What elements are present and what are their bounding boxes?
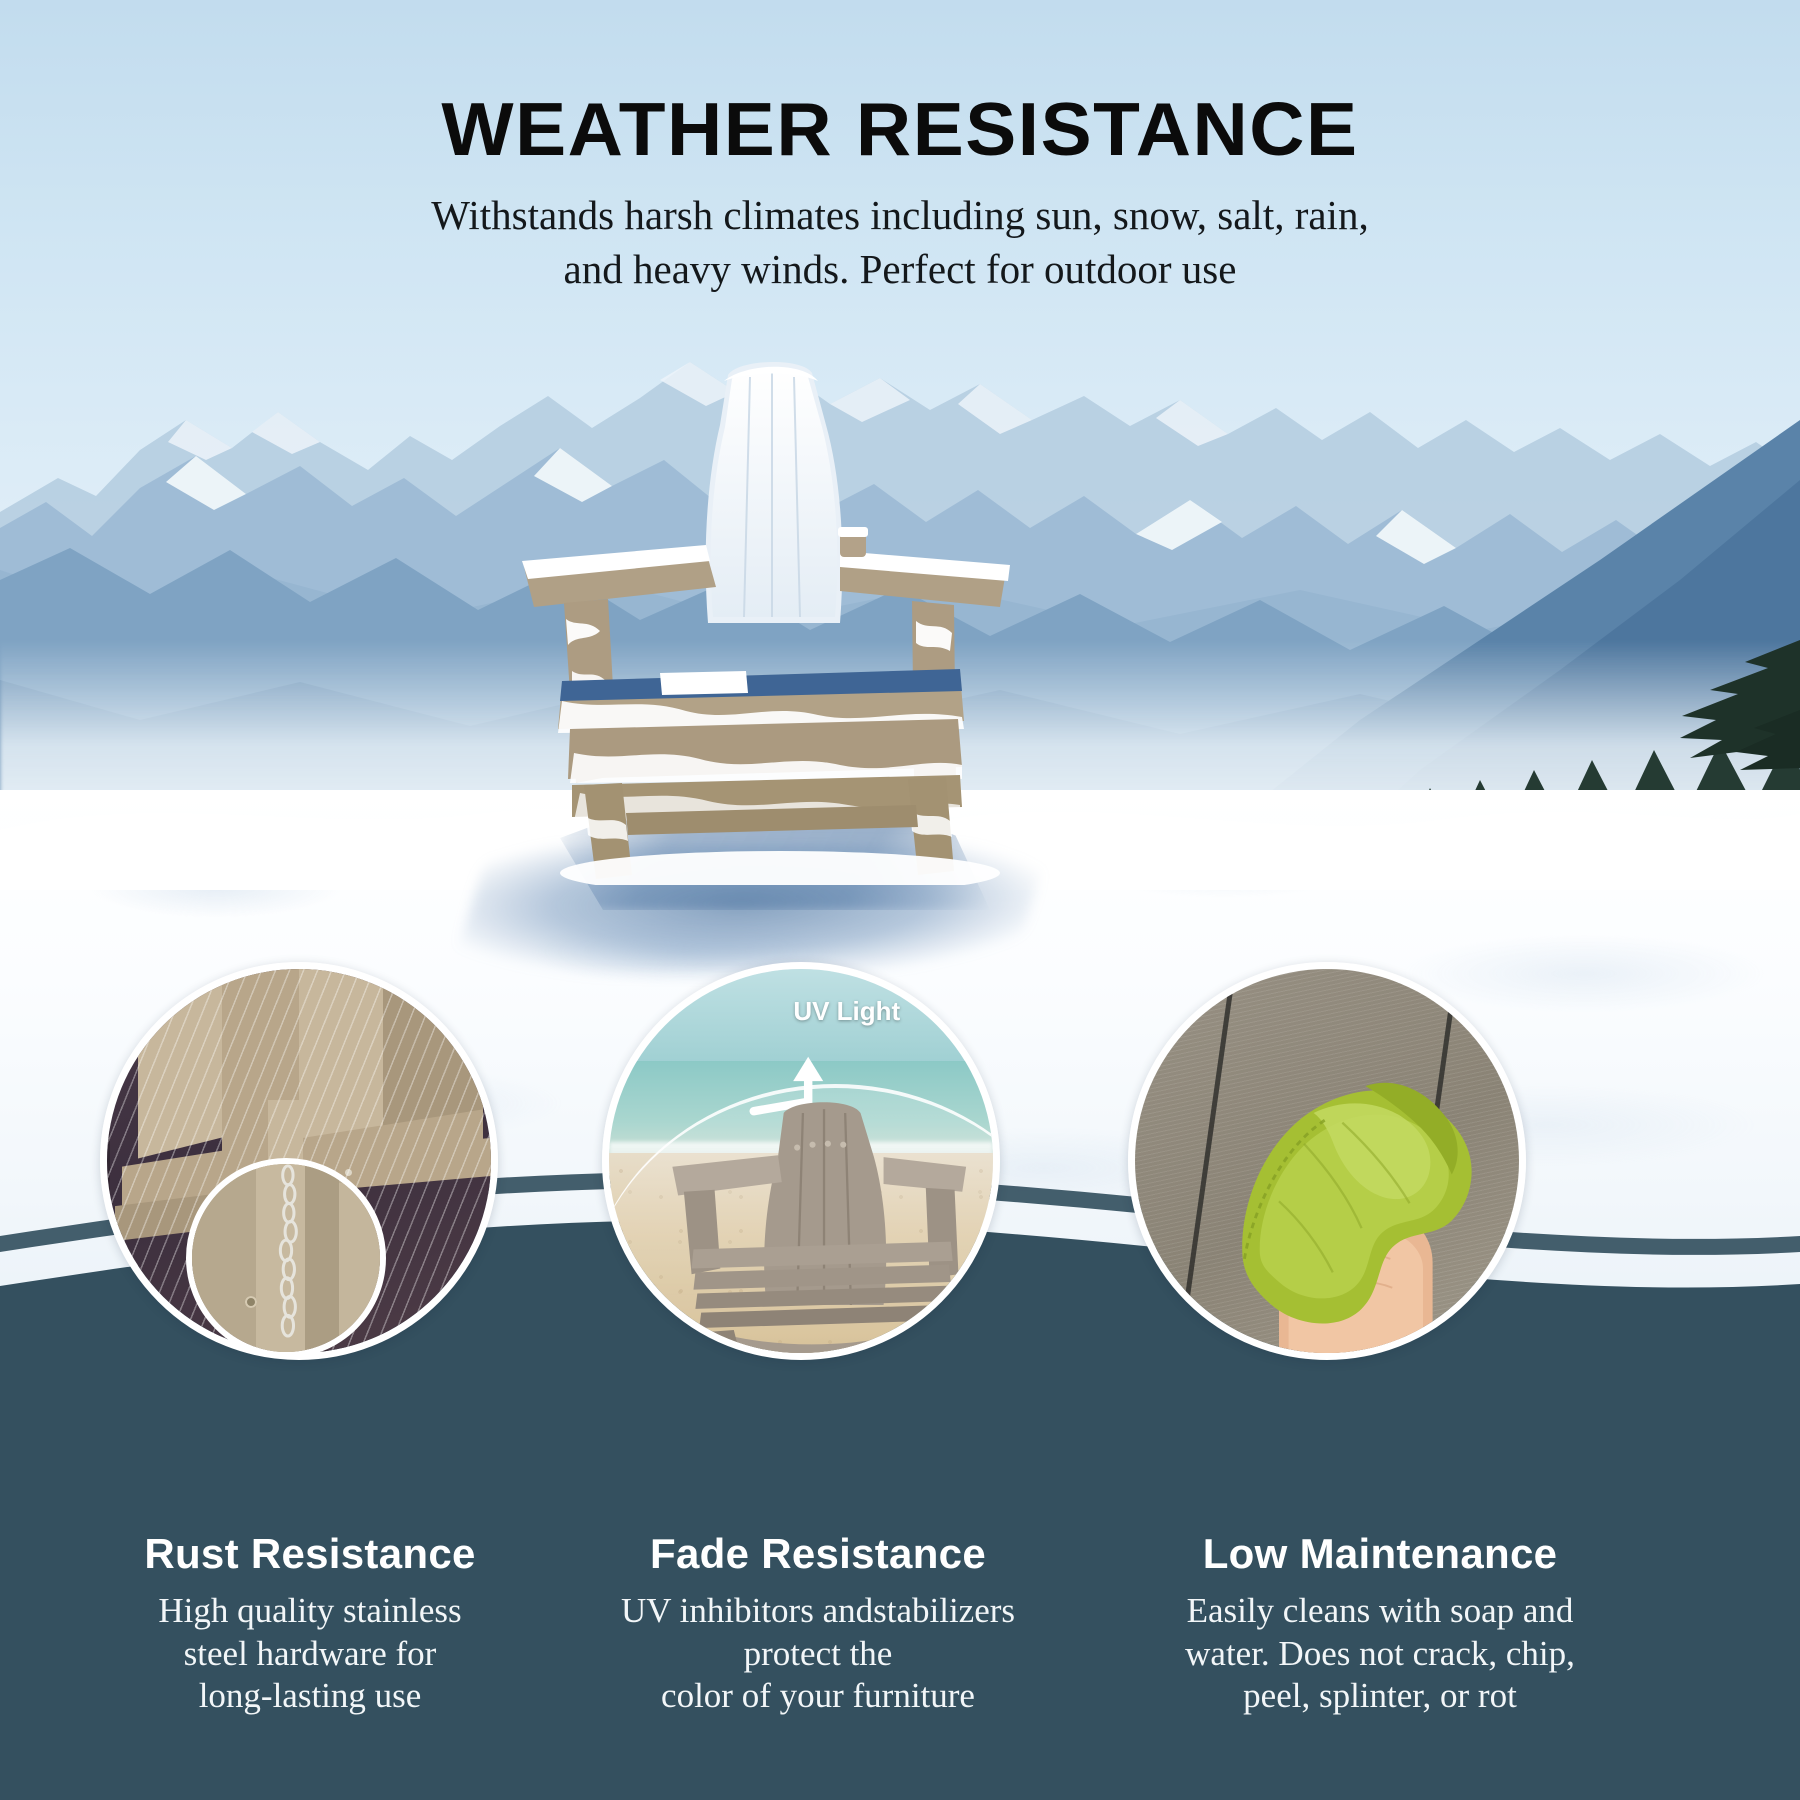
page-subtitle: Withstands harsh climates including sun,… <box>0 188 1800 296</box>
desc-line: long-lasting use <box>199 1676 422 1715</box>
feature-desc-low-maintenance: Easily cleans with soap and water. Does … <box>1070 1590 1690 1718</box>
feature-image-low-maintenance <box>1128 962 1526 1360</box>
subtitle-line-1: Withstands harsh climates including sun,… <box>0 188 1800 242</box>
feature-title-fade-resistance: Fade Resistance <box>558 1530 1078 1578</box>
feature-desc-rust-resistance: High quality stainless steel hardware fo… <box>50 1590 570 1718</box>
infographic-canvas: WEATHER RESISTANCE Withstands harsh clim… <box>0 0 1800 1800</box>
pine-branch <box>1540 620 1800 780</box>
desc-line: UV inhibitors andstabilizers <box>621 1591 1015 1630</box>
cloth-wipe-photo <box>1135 969 1519 1353</box>
desc-line: Easily cleans with soap and <box>1187 1591 1574 1630</box>
feature-title-rust-resistance: Rust Resistance <box>50 1530 570 1578</box>
subtitle-line-2: and heavy winds. Perfect for outdoor use <box>0 242 1800 296</box>
desc-line: steel hardware for <box>184 1634 437 1673</box>
desc-line: color of your furniture <box>661 1676 975 1715</box>
desc-line: water. Does not crack, chip, <box>1185 1634 1575 1673</box>
feature-inset-stainless-chain <box>186 1158 386 1358</box>
desc-line: protect the <box>744 1634 893 1673</box>
page-title: WEATHER RESISTANCE <box>0 86 1800 172</box>
feature-caption-low-maintenance: Low Maintenance Easily cleans with soap … <box>1070 1530 1690 1718</box>
feature-caption-fade-resistance: Fade Resistance UV inhibitors andstabili… <box>558 1530 1078 1718</box>
feature-image-fade-resistance: UV Light <box>602 962 1000 1360</box>
feature-title-low-maintenance: Low Maintenance <box>1070 1530 1690 1578</box>
feature-caption-rust-resistance: Rust Resistance High quality stainless s… <box>50 1530 570 1718</box>
desc-line: High quality stainless <box>158 1591 461 1630</box>
chain-closeup-photo <box>192 1164 380 1352</box>
desc-line: peel, splinter, or rot <box>1243 1676 1517 1715</box>
beach-chair-photo: UV Light <box>609 969 993 1353</box>
feature-desc-fade-resistance: UV inhibitors andstabilizers protect the… <box>558 1590 1078 1718</box>
hero-adirondack-chair <box>510 355 1030 885</box>
